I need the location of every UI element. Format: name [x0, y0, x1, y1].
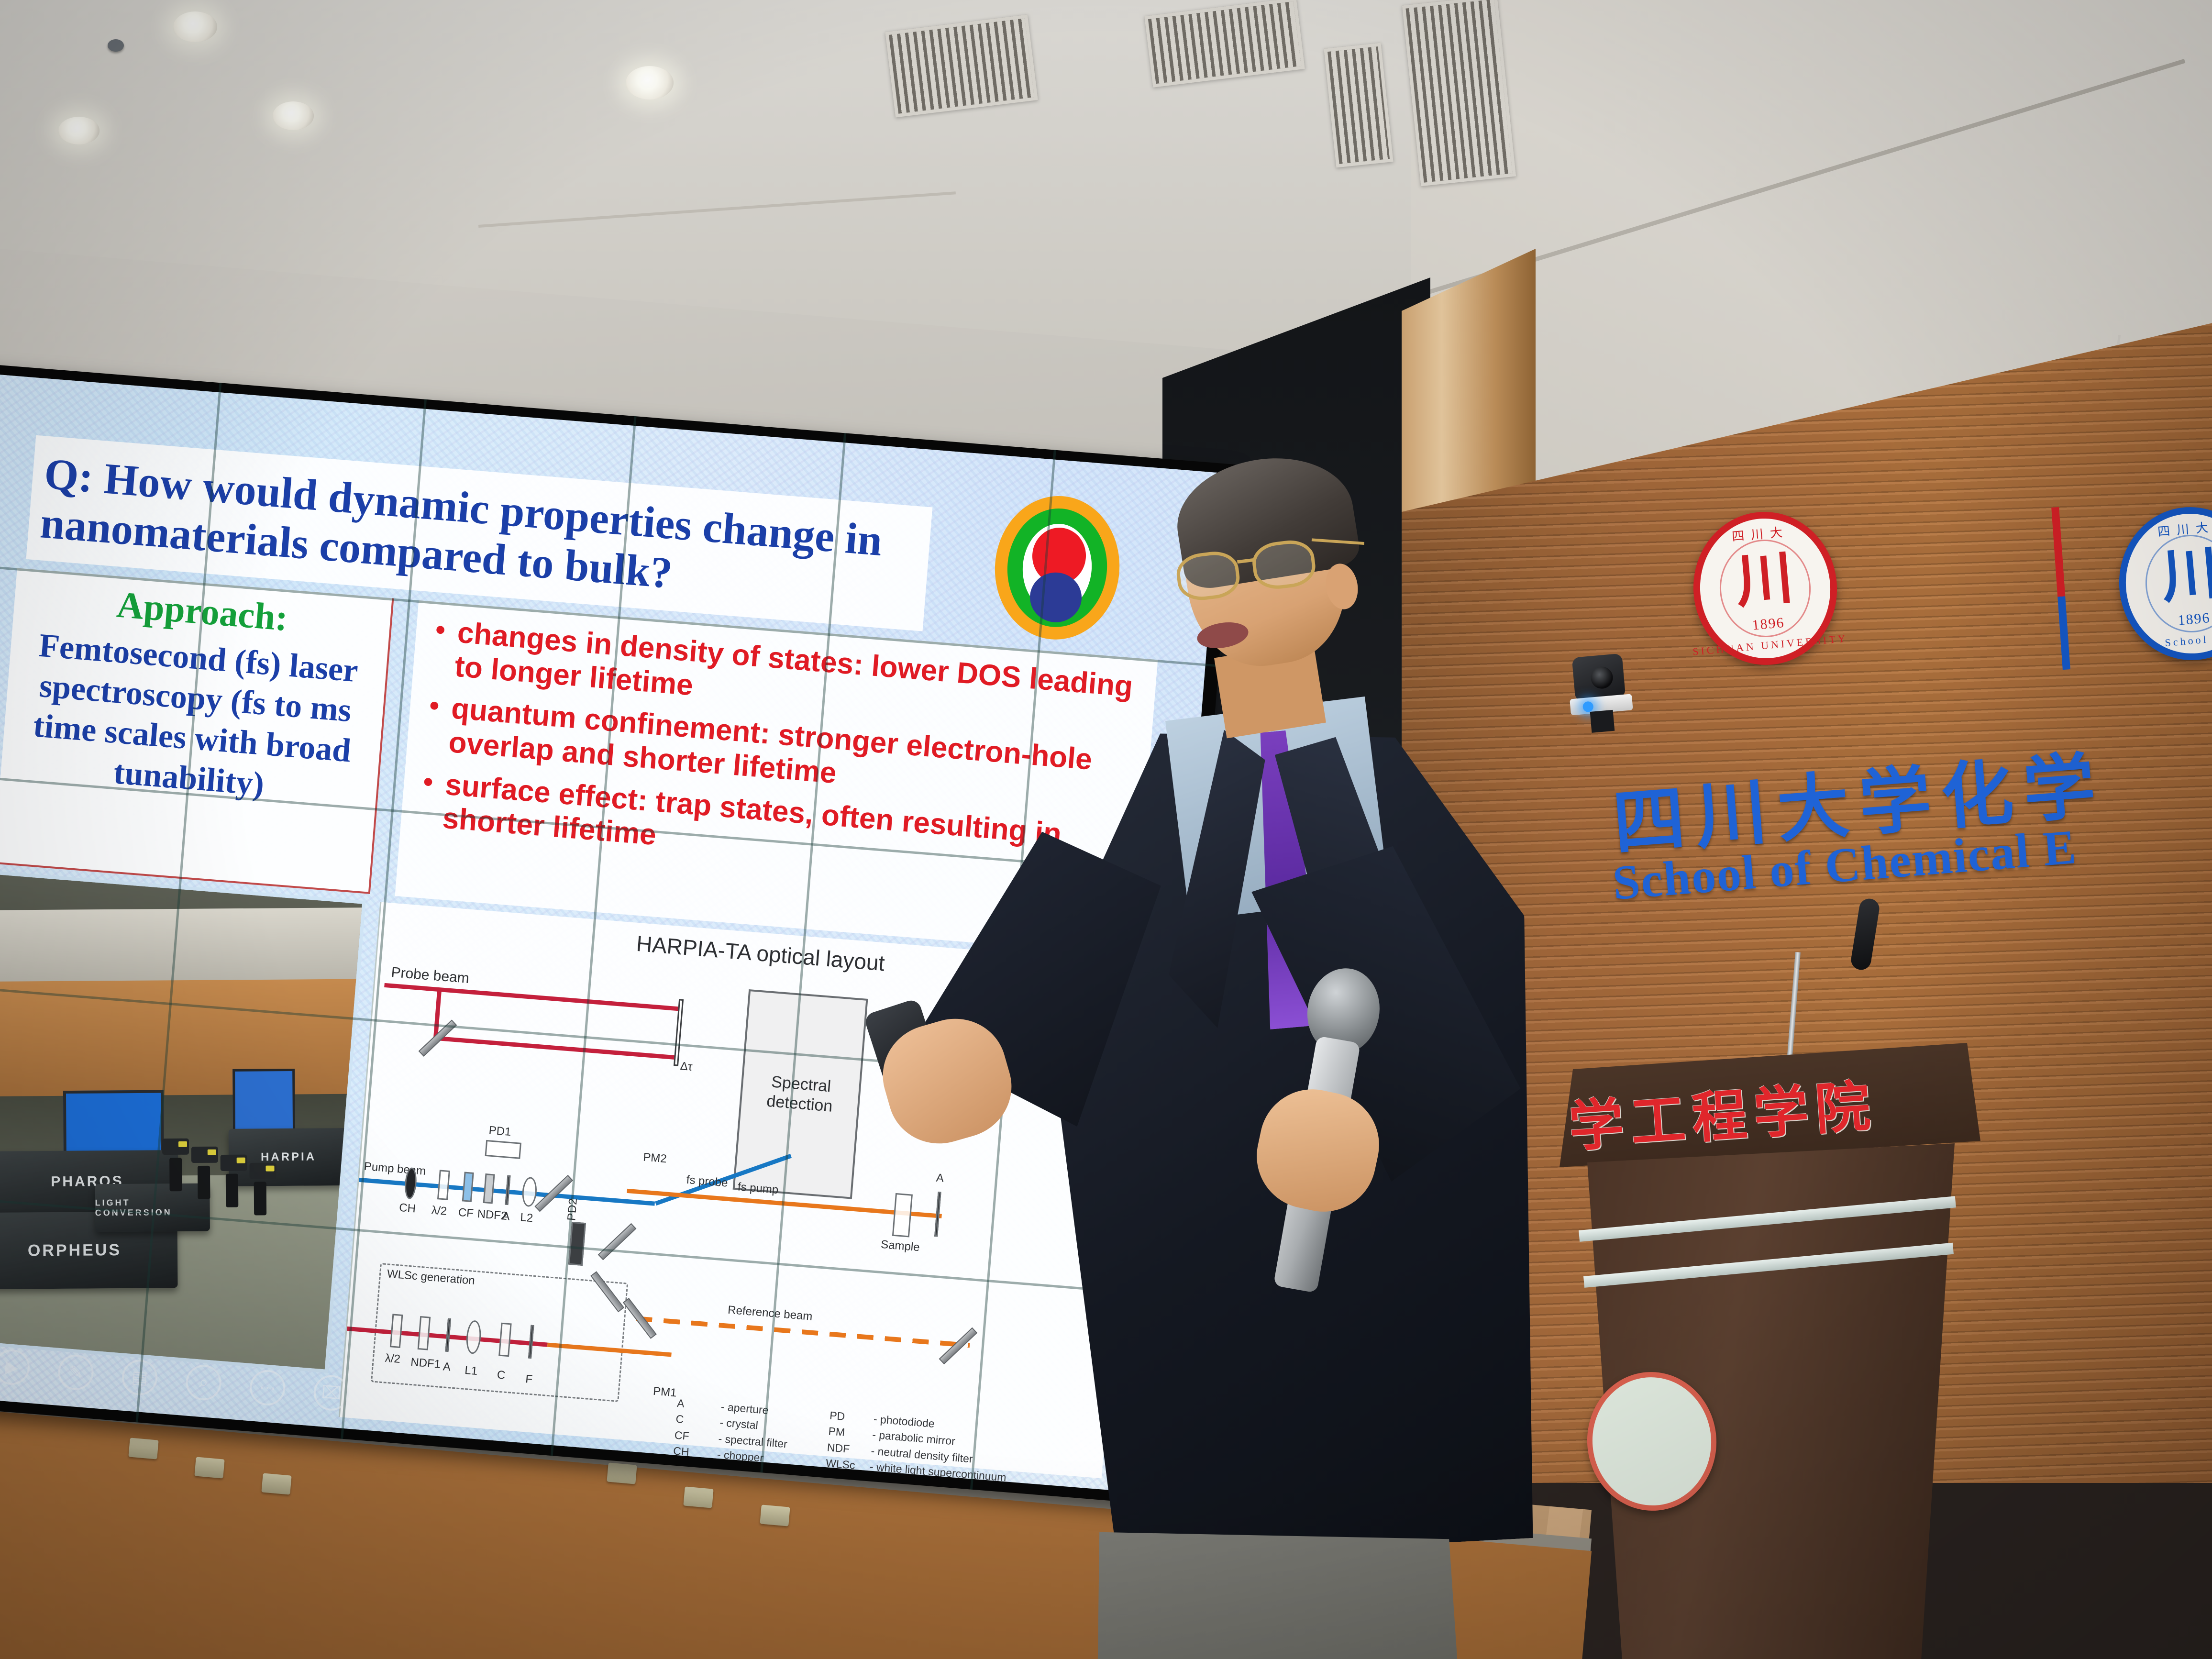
- fs-probe-label: fs probe: [686, 1173, 729, 1190]
- photodiode-pd1: [485, 1140, 521, 1159]
- optic-mount-head: [221, 1155, 247, 1171]
- reference-beam-label: Reference beam: [727, 1304, 813, 1324]
- legend-value: - chopper: [717, 1447, 764, 1466]
- camera-head: [1572, 653, 1626, 702]
- camera-lens-icon: [1590, 666, 1614, 690]
- label-hwp: λ/2: [431, 1204, 447, 1218]
- seal-emblem-glyph: 川: [1733, 549, 1795, 611]
- bullet-dot-icon: •: [431, 614, 447, 683]
- pump-beam-label: Pump beam: [364, 1160, 426, 1178]
- smoke-detector-icon: [108, 39, 124, 52]
- bullet-dot-icon: •: [419, 766, 434, 835]
- label-a2: A: [936, 1172, 944, 1185]
- hvac-vent-icon: [1402, 0, 1516, 186]
- legend-key: WLSc: [825, 1455, 870, 1475]
- pd1-label: PD1: [488, 1124, 512, 1139]
- cable-clip: [607, 1462, 637, 1484]
- label-l1: L1: [464, 1364, 478, 1378]
- lens-left: [1174, 549, 1242, 603]
- label-cf: CF: [458, 1206, 474, 1220]
- sample-cuvette: [892, 1193, 913, 1238]
- optic-mount: [169, 1158, 182, 1191]
- optic-mount: [226, 1174, 238, 1207]
- optic-mount-head: [249, 1163, 276, 1179]
- lectern: 学工程学院: [1559, 1043, 1990, 1659]
- optic-mount: [198, 1166, 210, 1199]
- seal-year: 1896: [1751, 615, 1785, 634]
- presenter: [971, 469, 1574, 1659]
- label-hwp1: λ/2: [385, 1352, 401, 1366]
- ceiling-downlight: [173, 11, 217, 42]
- pen-tool-icon[interactable]: ✎: [57, 1353, 95, 1392]
- legend-key: CH: [673, 1443, 718, 1462]
- lab-photograph: PHAROS ORPHEUS HARPIA LIGHT CONVERSION: [0, 869, 366, 1373]
- next-slide-button[interactable]: ▶: [0, 1348, 31, 1386]
- lab-laptop: [63, 1090, 164, 1158]
- optic-mount-head: [191, 1147, 218, 1163]
- cable-clip: [760, 1504, 790, 1526]
- lab-shelf: [0, 907, 366, 987]
- seal-ring-text: School of: [2165, 631, 2212, 649]
- label-a: A: [501, 1209, 510, 1223]
- pm1-label: PM1: [653, 1385, 677, 1400]
- label-ndf1: NDF1: [410, 1356, 441, 1371]
- optic-mount-head: [162, 1139, 189, 1155]
- sample-label: Sample: [880, 1238, 920, 1254]
- cable-clip: [194, 1457, 224, 1478]
- bullet-dot-icon: •: [425, 690, 441, 759]
- zoom-in-icon[interactable]: ⌕: [185, 1363, 223, 1402]
- optic-mount: [254, 1182, 266, 1215]
- approach-box: Approach: Femtosecond (fs) laser spectro…: [0, 568, 394, 894]
- lab-benchtop: [0, 979, 366, 1097]
- trousers: [1071, 1519, 1488, 1659]
- half-wave-plate: [437, 1170, 450, 1200]
- probe-beam-label: Probe beam: [390, 964, 470, 987]
- mirror: [598, 1223, 637, 1261]
- lens-right: [1250, 538, 1317, 592]
- cable-clip: [683, 1486, 713, 1508]
- hvac-vent-icon: [885, 14, 1038, 117]
- label-f: F: [525, 1372, 533, 1386]
- probe-beam-return: [438, 1036, 676, 1060]
- label-ch: CH: [398, 1201, 416, 1216]
- probe-beam-line: [384, 983, 680, 1011]
- spectral-filter: [462, 1172, 474, 1202]
- label-l2: L2: [520, 1211, 533, 1225]
- pm2-label: PM2: [642, 1150, 667, 1166]
- lecture-hall-photo: 四川大 川 1896 SICHUAN UNIVERSITY 四川大 川 1896…: [0, 0, 2212, 1659]
- neutral-density-filter-2: [483, 1173, 495, 1204]
- camera-mount: [1590, 710, 1615, 733]
- delay-label: Δτ: [680, 1060, 693, 1074]
- label-c: C: [497, 1368, 506, 1382]
- ptz-camera: [1566, 653, 1635, 730]
- fs-pump-label: fs pump: [737, 1180, 779, 1197]
- cable-clip: [261, 1473, 291, 1494]
- cable-clip: [128, 1438, 158, 1459]
- more-options-icon[interactable]: ⋯: [248, 1369, 287, 1407]
- ceiling-downlight: [273, 101, 314, 130]
- lens-l2: [521, 1176, 538, 1207]
- seal-year: 1896: [2177, 610, 2211, 629]
- label-a1: A: [442, 1360, 451, 1374]
- ceiling-downlight: [626, 66, 674, 100]
- seal-cn-text: 四川大: [1731, 522, 1790, 544]
- ceiling-downlight: [58, 117, 100, 144]
- seal-emblem-glyph: 川: [2159, 544, 2212, 607]
